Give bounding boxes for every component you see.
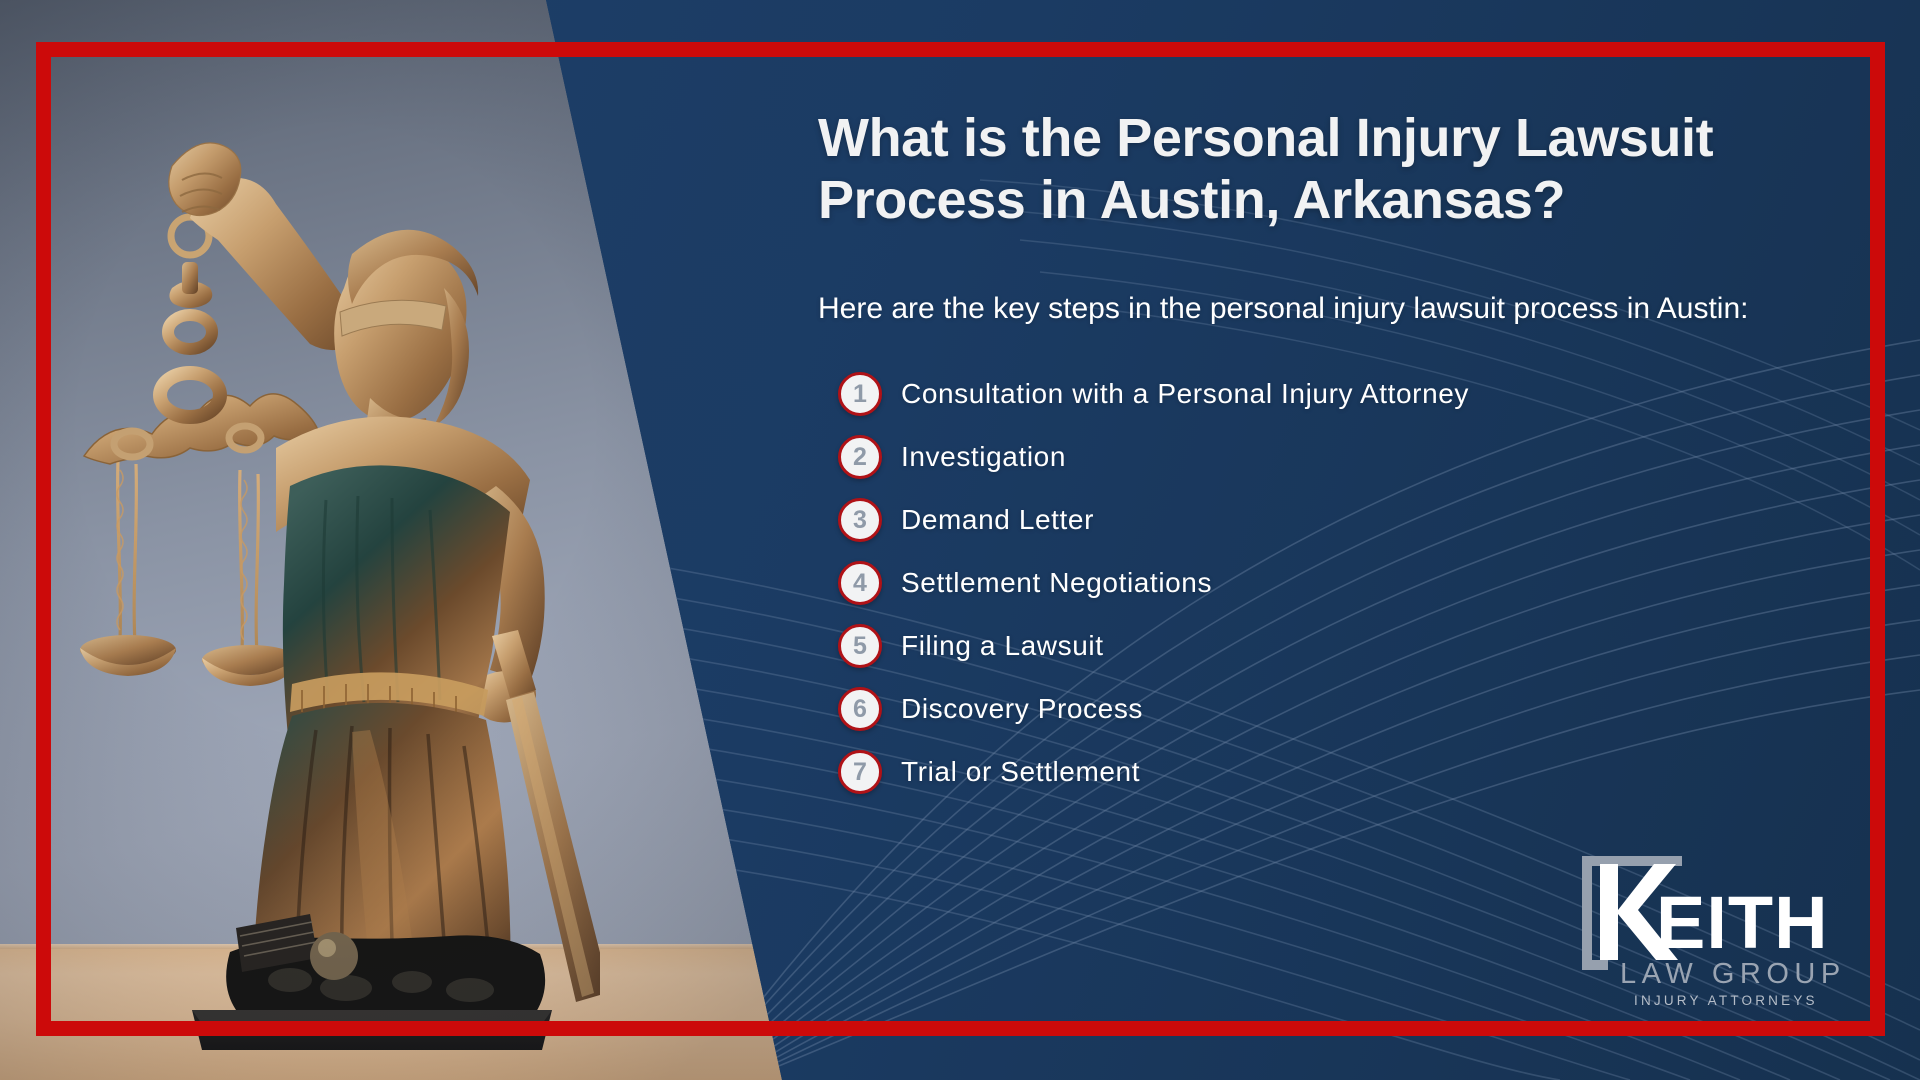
step-label: Trial or Settlement bbox=[901, 756, 1140, 788]
step-label: Investigation bbox=[901, 441, 1066, 473]
step-number-badge: 4 bbox=[838, 561, 882, 605]
list-item: 7 Trial or Settlement bbox=[818, 750, 1778, 794]
step-label: Consultation with a Personal Injury Atto… bbox=[901, 378, 1469, 410]
step-label: Filing a Lawsuit bbox=[901, 630, 1104, 662]
step-number-badge: 7 bbox=[838, 750, 882, 794]
step-number-badge: 5 bbox=[838, 624, 882, 668]
logo-tagline: LAW GROUP bbox=[1620, 958, 1846, 990]
step-label: Demand Letter bbox=[901, 504, 1094, 536]
page-title: What is the Personal Injury Lawsuit Proc… bbox=[818, 108, 1778, 231]
list-item: 1 Consultation with a Personal Injury At… bbox=[818, 372, 1778, 416]
list-item: 4 Settlement Negotiations bbox=[818, 561, 1778, 605]
step-number-badge: 1 bbox=[838, 372, 882, 416]
step-label: Discovery Process bbox=[901, 693, 1143, 725]
content-column: What is the Personal Injury Lawsuit Proc… bbox=[818, 108, 1778, 813]
subheading: Here are the key steps in the personal i… bbox=[818, 289, 1768, 328]
logo-subtagline: INJURY ATTORNEYS bbox=[1634, 993, 1818, 1008]
infographic-canvas: What is the Personal Injury Lawsuit Proc… bbox=[0, 0, 1920, 1080]
list-item: 5 Filing a Lawsuit bbox=[818, 624, 1778, 668]
step-number-badge: 3 bbox=[838, 498, 882, 542]
step-label: Settlement Negotiations bbox=[901, 567, 1212, 599]
list-item: 2 Investigation bbox=[818, 435, 1778, 479]
step-number-badge: 6 bbox=[838, 687, 882, 731]
logo-name: EITH bbox=[1656, 881, 1829, 964]
list-item: 6 Discovery Process bbox=[818, 687, 1778, 731]
list-item: 3 Demand Letter bbox=[818, 498, 1778, 542]
step-number-badge: 2 bbox=[838, 435, 882, 479]
steps-list: 1 Consultation with a Personal Injury At… bbox=[818, 372, 1778, 794]
keith-law-group-logo: EITH LAW GROUP INJURY ATTORNEYS bbox=[1578, 850, 1848, 1015]
